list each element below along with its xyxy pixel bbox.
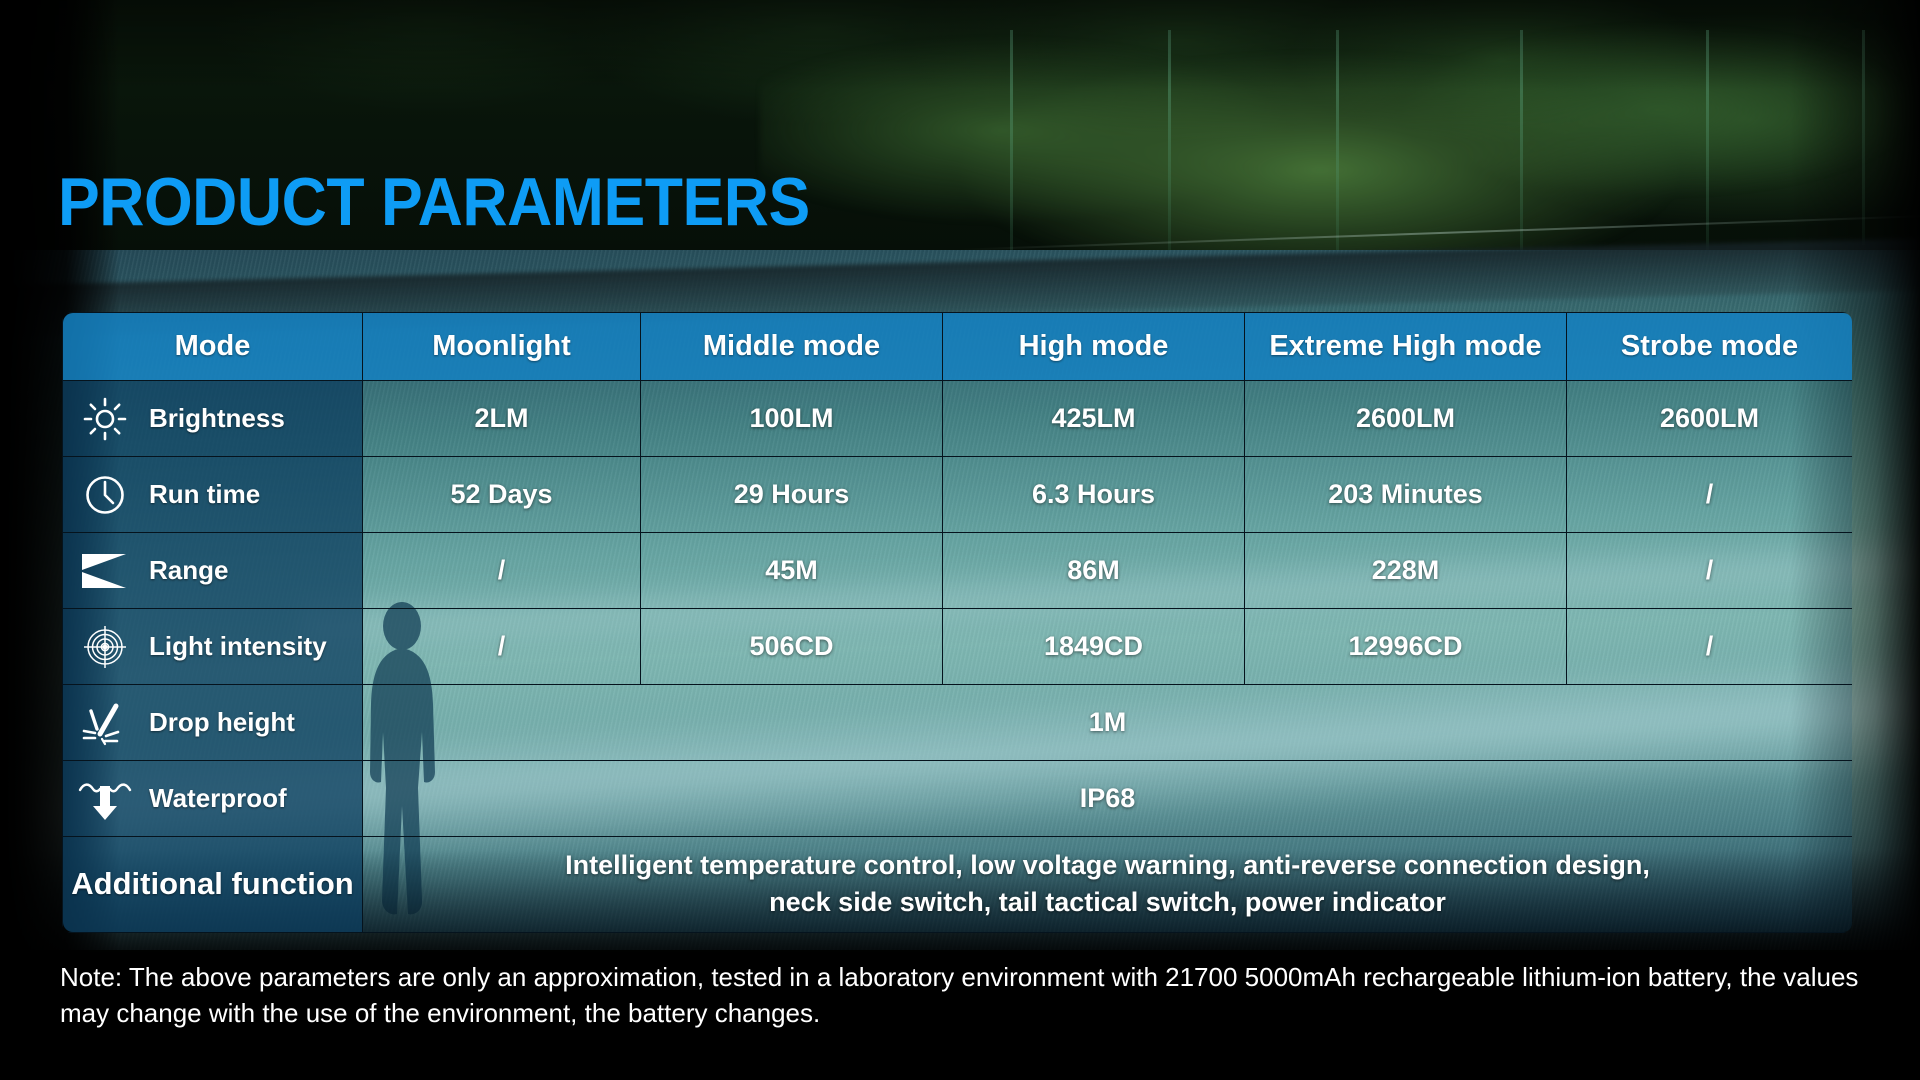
table-row: Run time 52 Days 29 Hours 6.3 Hours 203 …: [63, 457, 1853, 533]
cell-drop-height-value: 1M: [363, 685, 1853, 761]
product-parameters-banner: PRODUCT PARAMETERS Mode Moonlight Middle…: [0, 0, 1920, 1080]
cell-runtime-middle: 29 Hours: [641, 457, 943, 533]
table-row: Waterproof IP68: [63, 761, 1853, 837]
page-title: PRODUCT PARAMETERS: [58, 168, 810, 236]
row-label-brightness: Brightness: [63, 381, 363, 457]
footnote: Note: The above parameters are only an a…: [60, 960, 1870, 1032]
row-label-light-intensity: Light intensity: [63, 609, 363, 685]
cell-brightness-moonlight: 2LM: [363, 381, 641, 457]
additional-function-line-1: Intelligent temperature control, low vol…: [381, 847, 1834, 884]
cell-range-strobe: /: [1567, 533, 1853, 609]
water-wave-arrow-icon: [77, 772, 133, 826]
additional-function-line-2: neck side switch, tail tactical switch, …: [381, 884, 1834, 921]
row-label-text: Brightness: [149, 403, 285, 434]
cell-intensity-high: 1849CD: [943, 609, 1245, 685]
table-row: Drop height 1M: [63, 685, 1853, 761]
cell-brightness-strobe: 2600LM: [1567, 381, 1853, 457]
column-header-extreme-high-mode: Extreme High mode: [1245, 313, 1567, 381]
row-label-text: Light intensity: [149, 631, 327, 662]
cell-brightness-middle: 100LM: [641, 381, 943, 457]
table-body: Brightness 2LM 100LM 425LM 2600LM 2600LM: [63, 381, 1853, 933]
column-header-moonlight: Moonlight: [363, 313, 641, 381]
drop-impact-icon: [77, 696, 133, 750]
beam-range-icon: [77, 544, 133, 598]
row-label-text: Run time: [149, 479, 260, 510]
row-label-text: Range: [149, 555, 228, 586]
cell-intensity-middle: 506CD: [641, 609, 943, 685]
cell-brightness-high: 425LM: [943, 381, 1245, 457]
header-row: Mode Moonlight Middle mode High mode Ext…: [63, 313, 1853, 381]
cell-runtime-moonlight: 52 Days: [363, 457, 641, 533]
cell-range-middle: 45M: [641, 533, 943, 609]
cell-runtime-extreme-high: 203 Minutes: [1245, 457, 1567, 533]
row-label-run-time: Run time: [63, 457, 363, 533]
row-label-text: Additional function: [63, 866, 362, 902]
table-row: Additional function Intelligent temperat…: [63, 837, 1853, 933]
cell-range-high: 86M: [943, 533, 1245, 609]
row-label-waterproof: Waterproof: [63, 761, 363, 837]
column-header-middle-mode: Middle mode: [641, 313, 943, 381]
footnote-line-1: Note: The above parameters are only an a…: [60, 960, 1870, 996]
table-head: Mode Moonlight Middle mode High mode Ext…: [63, 313, 1853, 381]
column-header-high-mode: High mode: [943, 313, 1245, 381]
row-label-range: Range: [63, 533, 363, 609]
cell-range-extreme-high: 228M: [1245, 533, 1567, 609]
table-row: Brightness 2LM 100LM 425LM 2600LM 2600LM: [63, 381, 1853, 457]
cell-brightness-extreme-high: 2600LM: [1245, 381, 1567, 457]
cell-runtime-strobe: /: [1567, 457, 1853, 533]
column-header-mode: Mode: [63, 313, 363, 381]
column-header-strobe-mode: Strobe mode: [1567, 313, 1853, 381]
footnote-line-2: may change with the use of the environme…: [60, 996, 1870, 1032]
row-label-text: Drop height: [149, 707, 295, 738]
cell-waterproof-value: IP68: [363, 761, 1853, 837]
cell-intensity-extreme-high: 12996CD: [1245, 609, 1567, 685]
cell-intensity-moonlight: /: [363, 609, 641, 685]
cell-intensity-strobe: /: [1567, 609, 1853, 685]
parameters-table: Mode Moonlight Middle mode High mode Ext…: [62, 312, 1852, 933]
cell-runtime-high: 6.3 Hours: [943, 457, 1245, 533]
row-label-additional-function: Additional function: [63, 837, 363, 933]
cell-range-moonlight: /: [363, 533, 641, 609]
row-label-text: Waterproof: [149, 783, 287, 814]
row-label-drop-height: Drop height: [63, 685, 363, 761]
clock-icon: [77, 468, 133, 522]
sun-icon: [77, 392, 133, 446]
table-row: Light intensity / 506CD 1849CD 12996CD /: [63, 609, 1853, 685]
table-row: Range / 45M 86M 228M /: [63, 533, 1853, 609]
radar-target-icon: [77, 620, 133, 674]
parameters-table-container: Mode Moonlight Middle mode High mode Ext…: [62, 312, 1852, 933]
cell-additional-function-value: Intelligent temperature control, low vol…: [363, 837, 1853, 933]
